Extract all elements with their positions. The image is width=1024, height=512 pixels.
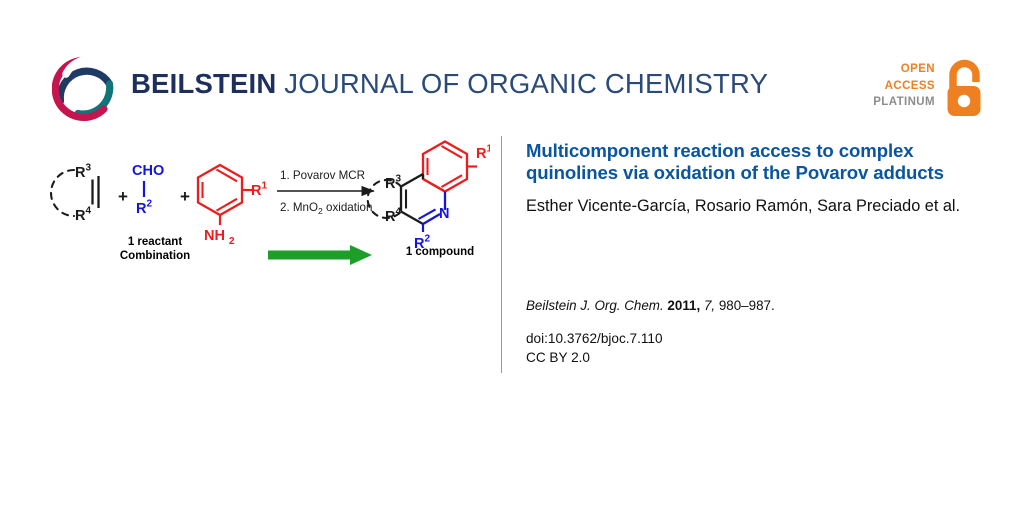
reactant-aldehyde-group: CHO R 2 xyxy=(132,163,164,217)
masthead: BEILSTEIN JOURNAL OF ORGANIC CHEMISTRY O… xyxy=(0,0,1024,130)
svg-text:R: R xyxy=(251,183,262,199)
svg-text:R: R xyxy=(385,209,396,225)
svg-text:3: 3 xyxy=(396,174,402,185)
plus-sign-1: + xyxy=(118,187,128,206)
svg-text:2: 2 xyxy=(425,234,431,245)
condition-step-1: 1. Povarov MCR xyxy=(280,169,365,182)
svg-text:2: 2 xyxy=(147,199,153,210)
article-title[interactable]: Multicomponent reaction access to comple… xyxy=(526,140,968,183)
open-access-labels: OPEN ACCESS PLATINUM xyxy=(873,61,935,111)
svg-text:R: R xyxy=(476,146,487,162)
open-access-badge: OPEN ACCESS PLATINUM xyxy=(873,58,995,120)
reaction-conditions-arrow: 1. Povarov MCR 2. MnO2 oxidation xyxy=(277,169,374,216)
svg-text:1: 1 xyxy=(487,144,491,155)
svg-text:R: R xyxy=(75,165,86,181)
citation-year: 2011, xyxy=(667,298,700,313)
open-padlock-icon xyxy=(941,58,987,118)
svg-text:R: R xyxy=(136,201,147,217)
open-access-line-access: ACCESS xyxy=(873,78,935,95)
svg-text:R: R xyxy=(75,208,86,224)
article-license-text[interactable]: CC BY 2.0 xyxy=(526,348,663,367)
open-access-line-platinum: PLATINUM xyxy=(873,94,935,111)
citation-journal: Beilstein J. Org. Chem. xyxy=(526,298,664,313)
beilstein-spiral-logo-icon xyxy=(52,54,120,122)
open-access-line-open: OPEN xyxy=(873,61,935,78)
svg-text:3: 3 xyxy=(86,163,92,174)
article-metadata: Multicomponent reaction access to comple… xyxy=(526,140,968,217)
wordmark-journal-of-organic-chemistry: JOURNAL OF ORGANIC CHEMISTRY xyxy=(276,68,768,99)
caption-compound-count: 1 compound xyxy=(390,246,490,258)
article-doi-and-license: doi:10.3762/bjoc.7.110 CC BY 2.0 xyxy=(526,329,663,367)
svg-text:N: N xyxy=(439,206,449,222)
wordmark-beilstein: BEILSTEIN xyxy=(131,68,276,99)
article-citation: Beilstein J. Org. Chem. 2011, 7, 980–987… xyxy=(526,298,775,313)
svg-text:2: 2 xyxy=(229,236,235,247)
caption-line-1: 1 reactant xyxy=(128,236,182,248)
plus-sign-2: + xyxy=(180,187,190,206)
caption-reactant-combination: 1 reactant Combination xyxy=(96,235,214,263)
condition-step-2: 2. MnO2 oxidation xyxy=(280,201,372,216)
citation-pages: 980–987. xyxy=(719,298,775,313)
svg-text:1: 1 xyxy=(262,181,268,192)
article-doi-text[interactable]: doi:10.3762/bjoc.7.110 xyxy=(526,329,663,348)
column-divider xyxy=(501,136,502,373)
reactant-cycloalkene-group: R 3 R 4 xyxy=(51,163,99,225)
caption-line-2: Combination xyxy=(120,250,190,262)
svg-text:4: 4 xyxy=(86,206,92,217)
product-quinoline-group: R 1 N R 2 R 3 xyxy=(368,142,490,253)
svg-text:CHO: CHO xyxy=(132,163,164,179)
citation-volume: 7, xyxy=(704,298,715,313)
journal-wordmark: BEILSTEIN JOURNAL OF ORGANIC CHEMISTRY xyxy=(131,70,768,98)
article-authors: Esther Vicente-García, Rosario Ramón, Sa… xyxy=(526,196,968,217)
green-process-arrow-icon xyxy=(268,244,378,266)
svg-text:R: R xyxy=(385,176,396,192)
svg-text:4: 4 xyxy=(396,207,402,218)
